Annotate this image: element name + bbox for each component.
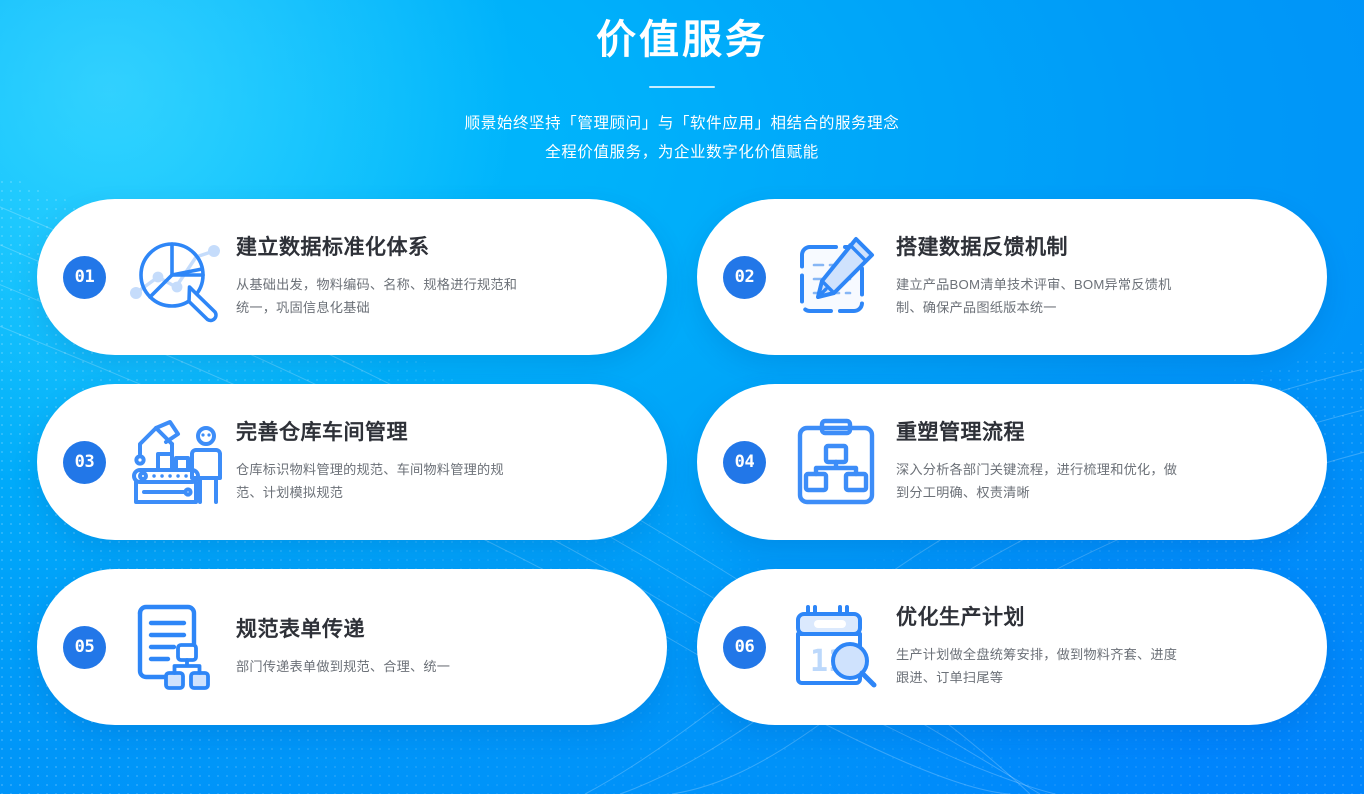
page-title: 价值服务 [0,14,1364,66]
card-title: 规范表单传递 [236,617,633,643]
card-texts: 规范表单传递 部门传递表单做到规范、合理、统一 [232,617,667,678]
service-card[interactable]: 05 规范表单传递 部门传递表单做到规范、合理 [37,569,667,725]
card-desc-line-2: 到分工明确、权责清晰 [896,481,1301,504]
service-card[interactable]: 06 11 优化生产计划 生产计划做全盘统筹安排，做到物料齐套、进度 跟进、订单… [697,569,1327,725]
card-texts: 搭建数据反馈机制 建立产品BOM清单技术评审、BOM异常反馈机 制、确保产品图纸… [892,235,1327,319]
pencil-document-icon [780,225,892,329]
document-hierarchy-icon [120,595,232,699]
card-description: 仓库标识物料管理的规范、车间物料管理的规 范、计划模拟规范 [236,458,633,504]
card-texts: 重塑管理流程 深入分析各部门关键流程，进行梳理和优化，做 到分工明确、权责清晰 [892,420,1327,504]
card-texts: 优化生产计划 生产计划做全盘统筹安排，做到物料齐套、进度 跟进、订单扫尾等 [892,605,1327,689]
card-title: 优化生产计划 [896,605,1301,631]
service-card[interactable]: 03 [37,384,667,540]
service-card[interactable]: 02 搭建数据反馈机制 建立产品BOM清单技术评审、BOM异常反馈机 制、确保产… [697,199,1327,355]
card-description: 部门传递表单做到规范、合理、统一 [236,655,633,678]
page-header: 价值服务 顺景始终坚持「管理顾问」与「软件应用」相结合的服务理念 全程价值服务，… [0,0,1364,167]
card-desc-line-1: 部门传递表单做到规范、合理、统一 [236,655,633,678]
service-card[interactable]: 01 建立数据标准化体系 [37,199,667,355]
card-desc-line-1: 从基础出发，物料编码、名称、规格进行规范和 [236,273,633,296]
factory-conveyor-worker-icon [120,410,232,514]
card-desc-line-2: 范、计划模拟规范 [236,481,633,504]
card-desc-line-1: 建立产品BOM清单技术评审、BOM异常反馈机 [896,273,1301,296]
card-desc-line-1: 深入分析各部门关键流程，进行梳理和优化，做 [896,458,1301,481]
card-number-badge: 02 [723,256,766,299]
card-title: 建立数据标准化体系 [236,235,633,261]
card-desc-line-2: 统一，巩固信息化基础 [236,296,633,319]
subtitle-line-1: 顺景始终坚持「管理顾问」与「软件应用」相结合的服务理念 [0,110,1364,139]
card-texts: 完善仓库车间管理 仓库标识物料管理的规范、车间物料管理的规 范、计划模拟规范 [232,420,667,504]
card-desc-line-2: 制、确保产品图纸版本统一 [896,296,1301,319]
page-subtitle: 顺景始终坚持「管理顾问」与「软件应用」相结合的服务理念 全程价值服务，为企业数字… [0,110,1364,167]
card-description: 生产计划做全盘统筹安排，做到物料齐套、进度 跟进、订单扫尾等 [896,643,1301,689]
subtitle-line-2: 全程价值服务，为企业数字化价值赋能 [0,139,1364,168]
card-desc-line-1: 生产计划做全盘统筹安排，做到物料齐套、进度 [896,643,1301,666]
card-number-badge: 01 [63,256,106,299]
card-title: 重塑管理流程 [896,420,1301,446]
service-card-grid: 01 建立数据标准化体系 [37,199,1327,725]
card-title: 完善仓库车间管理 [236,420,633,446]
card-number-badge: 06 [723,626,766,669]
pie-chart-magnifier-icon [120,225,232,329]
card-title: 搭建数据反馈机制 [896,235,1301,261]
card-number-badge: 04 [723,441,766,484]
calendar-magnifier-icon: 11 [780,595,892,699]
card-description: 深入分析各部门关键流程，进行梳理和优化，做 到分工明确、权责清晰 [896,458,1301,504]
card-description: 从基础出发，物料编码、名称、规格进行规范和 统一，巩固信息化基础 [236,273,633,319]
service-card[interactable]: 04 重塑管理流程 深入分析各部门关键流程，进行梳理和优化，做 到分工明确、权责… [697,384,1327,540]
card-description: 建立产品BOM清单技术评审、BOM异常反馈机 制、确保产品图纸版本统一 [896,273,1301,319]
card-number-badge: 05 [63,626,106,669]
card-texts: 建立数据标准化体系 从基础出发，物料编码、名称、规格进行规范和 统一，巩固信息化… [232,235,667,319]
title-divider [649,86,715,88]
card-desc-line-2: 跟进、订单扫尾等 [896,666,1301,689]
card-number-badge: 03 [63,441,106,484]
clipboard-flowchart-icon [780,410,892,514]
card-desc-line-1: 仓库标识物料管理的规范、车间物料管理的规 [236,458,633,481]
